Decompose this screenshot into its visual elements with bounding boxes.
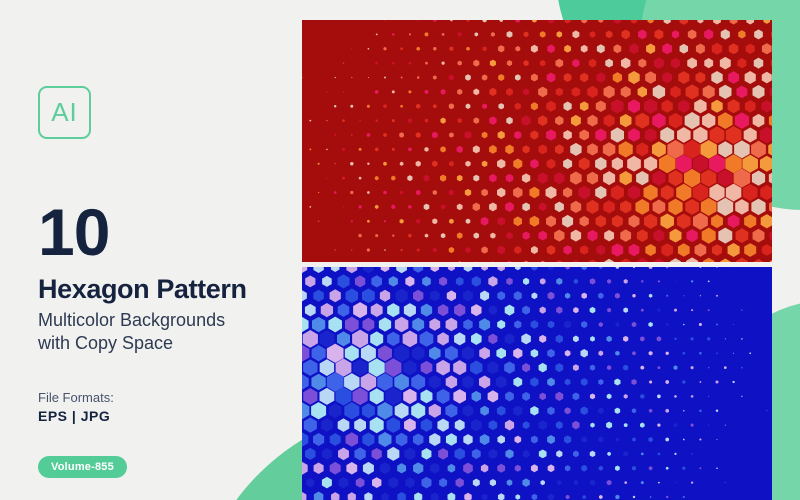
item-count: 10 <box>38 201 288 264</box>
info-column: AI 10 Hexagon Pattern Multicolor Backgro… <box>38 86 288 478</box>
file-formats-value: EPS | JPG <box>38 408 288 424</box>
blue-hexagon-pattern <box>302 267 772 500</box>
page-subtitle: Multicolor Backgrounds with Copy Space <box>38 309 288 354</box>
volume-badge: Volume-855 <box>38 456 127 478</box>
page-subtitle-line-1: Multicolor Backgrounds <box>38 309 288 332</box>
red-hexagon-pattern <box>302 20 772 262</box>
blue-hexagon-panel <box>302 267 772 500</box>
ai-format-badge: AI <box>38 86 91 139</box>
page-subtitle-line-2: with Copy Space <box>38 332 288 355</box>
file-formats-label: File Formats: <box>38 390 288 405</box>
red-hexagon-panel <box>302 20 772 262</box>
poster-canvas: AI 10 Hexagon Pattern Multicolor Backgro… <box>0 0 800 500</box>
page-title: Hexagon Pattern <box>38 274 288 304</box>
ai-badge-label: AI <box>51 97 78 128</box>
